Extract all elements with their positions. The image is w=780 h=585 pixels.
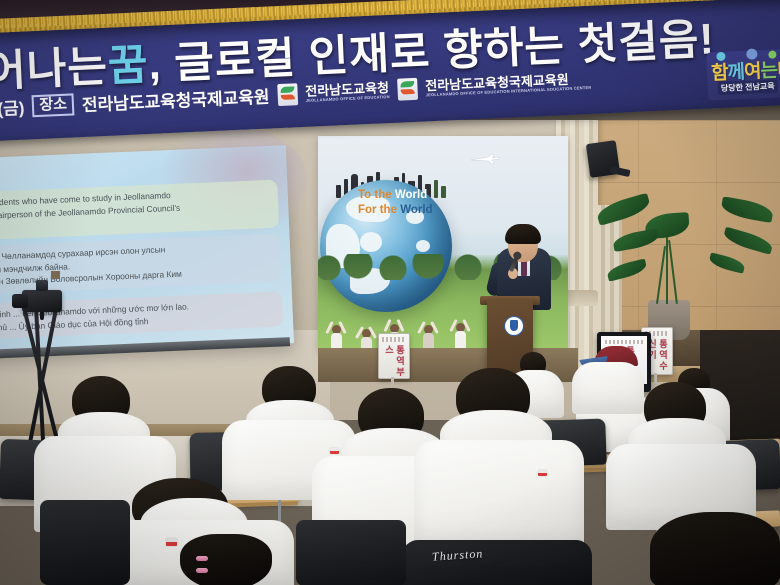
banner-headline-highlight: 꿈 [107,41,150,91]
mural-child [422,319,436,349]
backpack [296,520,406,585]
slogan-line1-a: To the [358,189,392,201]
camera-flip-screen [36,280,48,291]
video-camera-icon [22,290,62,312]
projection-screen: ...ional students who have come to study… [0,145,294,357]
mural-child [330,319,344,349]
international-center-logo-text: 전라남도교육청국제교육원 JEOLLANAMDO OFFICE OF EDUCA… [425,71,592,97]
mural-child [360,323,374,351]
slogan-line2-b: World [400,204,432,216]
sign-header-text [382,337,406,342]
banner-date: . (금) [0,94,25,121]
backpack [40,500,130,585]
event-photo: ...ional students who have come to study… [0,0,780,585]
slogan-line1-b: World [395,189,427,201]
banner-headline-prefix: 어나는 [0,43,109,96]
banner-place-label: 장소 [32,93,75,117]
sign-interpretation-booth: 통역부스 [378,333,410,379]
mural-slogan: To the World For the World [358,188,433,218]
slogan-line2-a: For the [358,204,397,216]
education-office-logo-icon [277,83,298,106]
camera-lens-icon [12,294,28,308]
sign-leg [654,373,657,383]
education-office-logo-text: 전라남도교육청 JEOLLANAMDO OFFICE OF EDUCATION [305,81,390,103]
sign-leg [391,377,394,387]
campaign-emblem: 함께여는미래 당당한 전남교육 [706,48,780,101]
chair-back-dark [402,540,592,585]
speaker-hair [505,224,541,244]
airplane-icon [470,154,500,164]
international-center-logo-icon [397,77,418,100]
institute-crest-icon [504,316,524,336]
sign-vertical-label: 통역부스 [383,345,405,378]
emblem-subtitle: 당당한 전남교육 [718,79,778,95]
mural-child [454,317,468,347]
